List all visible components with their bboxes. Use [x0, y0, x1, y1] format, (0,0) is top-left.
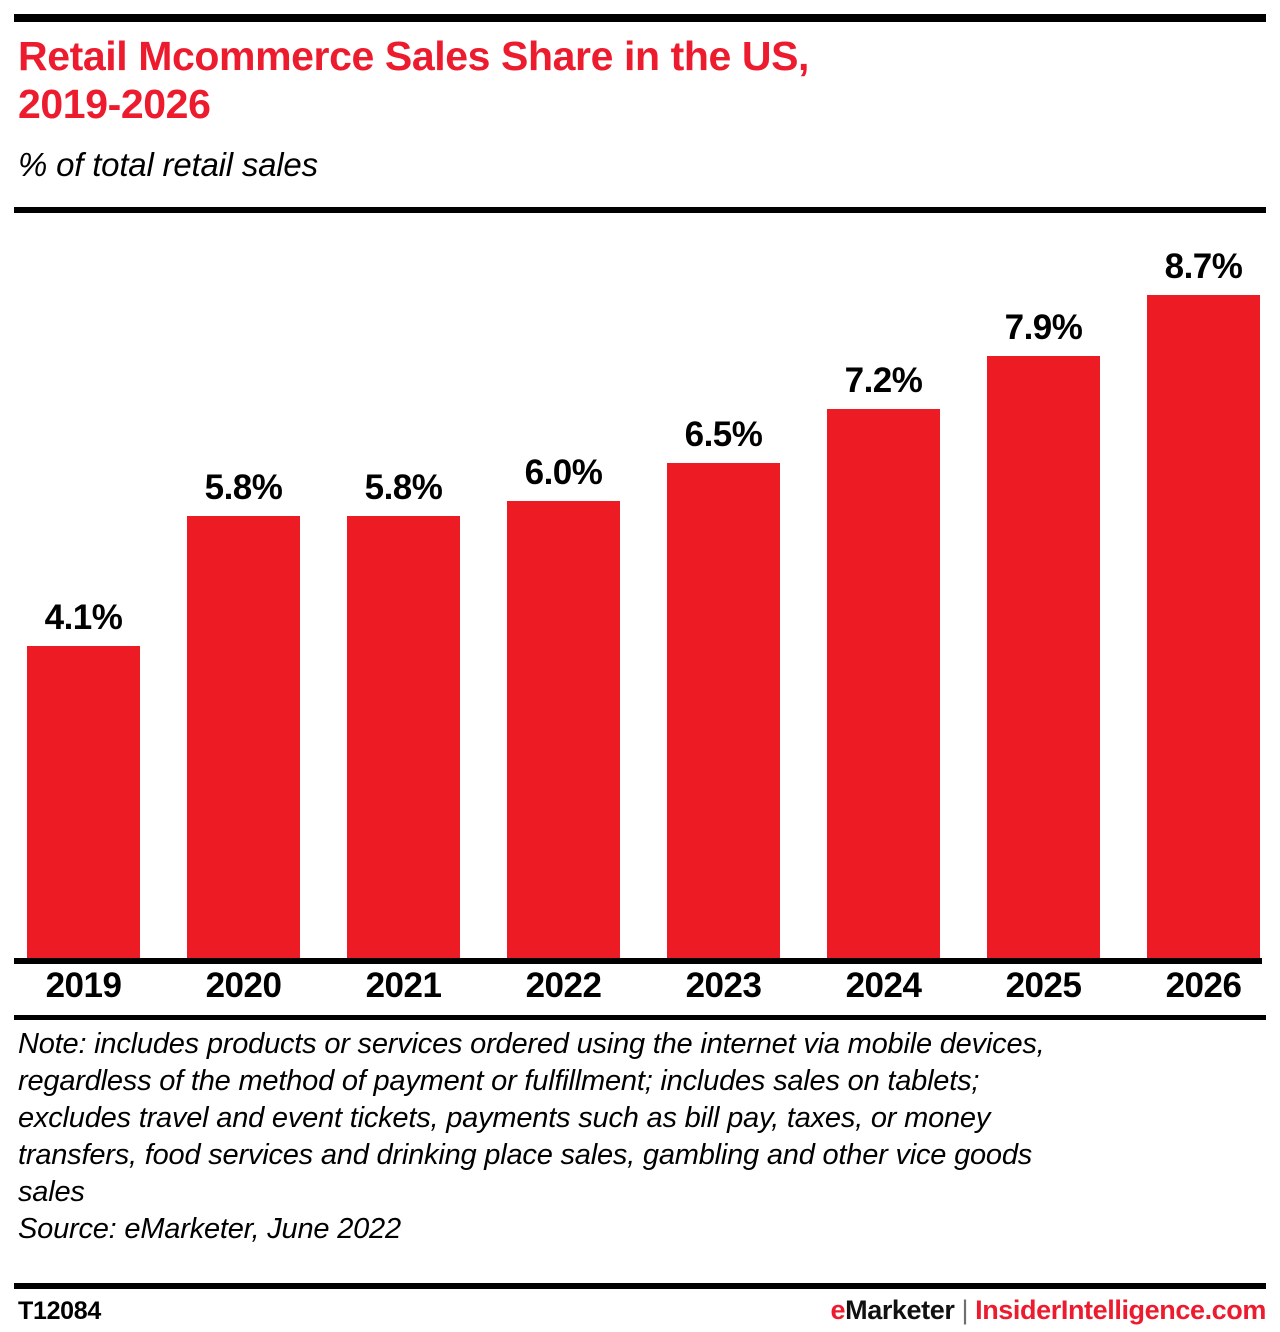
x-axis-label: 2022	[489, 966, 638, 1006]
x-axis-label: 2023	[649, 966, 798, 1006]
header-divider	[14, 207, 1266, 213]
footer-divider	[14, 1283, 1266, 1289]
x-axis-label: 2026	[1129, 966, 1278, 1006]
page-subtitle: % of total retail sales	[18, 145, 1258, 185]
note-line: Note: includes products or services orde…	[18, 1026, 1262, 1063]
brand-separator: |	[954, 1295, 975, 1325]
bar-group: 7.2%	[827, 228, 940, 958]
bar-value-label: 4.1%	[9, 598, 158, 638]
chart-notes: Note: includes products or services orde…	[18, 1026, 1262, 1248]
brand-insider-intelligence: InsiderIntelligence.com	[975, 1295, 1266, 1325]
bar-group: 7.9%	[987, 228, 1100, 958]
bar-value-label: 6.0%	[489, 453, 638, 493]
bar[interactable]	[827, 409, 940, 958]
brand-lockup[interactable]: eMarketer|InsiderIntelligence.com	[830, 1295, 1266, 1326]
bar[interactable]	[187, 516, 300, 958]
bar-value-label: 6.5%	[649, 415, 798, 455]
bar[interactable]	[347, 516, 460, 958]
top-rule-divider	[14, 14, 1266, 22]
bar[interactable]	[27, 646, 140, 958]
x-axis-label: 2021	[329, 966, 478, 1006]
x-axis-label: 2020	[169, 966, 318, 1006]
note-line: excludes travel and event tickets, payme…	[18, 1100, 1262, 1137]
x-axis-label: 2025	[969, 966, 1118, 1006]
bar-group: 6.5%	[667, 228, 780, 958]
note-line: sales	[18, 1174, 1262, 1211]
bar[interactable]	[507, 501, 620, 958]
x-axis-label: 2024	[809, 966, 958, 1006]
bar-value-label: 5.8%	[329, 468, 478, 508]
page-title: Retail Mcommerce Sales Share in the US, …	[18, 32, 1258, 128]
bar[interactable]	[987, 356, 1100, 958]
bar-group: 4.1%	[27, 228, 140, 958]
note-line: regardless of the method of payment or f…	[18, 1063, 1262, 1100]
bar-group: 5.8%	[187, 228, 300, 958]
bar-group: 5.8%	[347, 228, 460, 958]
below-axis-divider	[14, 1015, 1266, 1020]
bar-value-label: 7.2%	[809, 361, 958, 401]
footer: T12084 eMarketer|InsiderIntelligence.com	[14, 1295, 1266, 1331]
bar[interactable]	[667, 463, 780, 958]
x-axis-label: 2019	[9, 966, 158, 1006]
bar-chart: 4.1%5.8%5.8%6.0%6.5%7.2%7.9%8.7%	[14, 228, 1266, 964]
x-axis-line	[14, 958, 1262, 964]
bar[interactable]	[1147, 295, 1260, 958]
bar-value-label: 5.8%	[169, 468, 318, 508]
bar-group: 8.7%	[1147, 228, 1260, 958]
note-line: Source: eMarketer, June 2022	[18, 1211, 1262, 1248]
bar-value-label: 7.9%	[969, 308, 1118, 348]
chart-id: T12084	[18, 1297, 101, 1326]
x-axis-tick-labels: 20192020202120222023202420252026	[14, 966, 1266, 1012]
brand-emarketer-e: e	[830, 1295, 845, 1325]
note-line: transfers, food services and drinking pl…	[18, 1137, 1262, 1174]
chart-page: Retail Mcommerce Sales Share in the US, …	[0, 0, 1280, 1332]
brand-emarketer-marketer: Marketer	[845, 1295, 954, 1325]
plot-area: 4.1%5.8%5.8%6.0%6.5%7.2%7.9%8.7%	[14, 228, 1266, 958]
bar-value-label: 8.7%	[1129, 247, 1278, 287]
bar-group: 6.0%	[507, 228, 620, 958]
